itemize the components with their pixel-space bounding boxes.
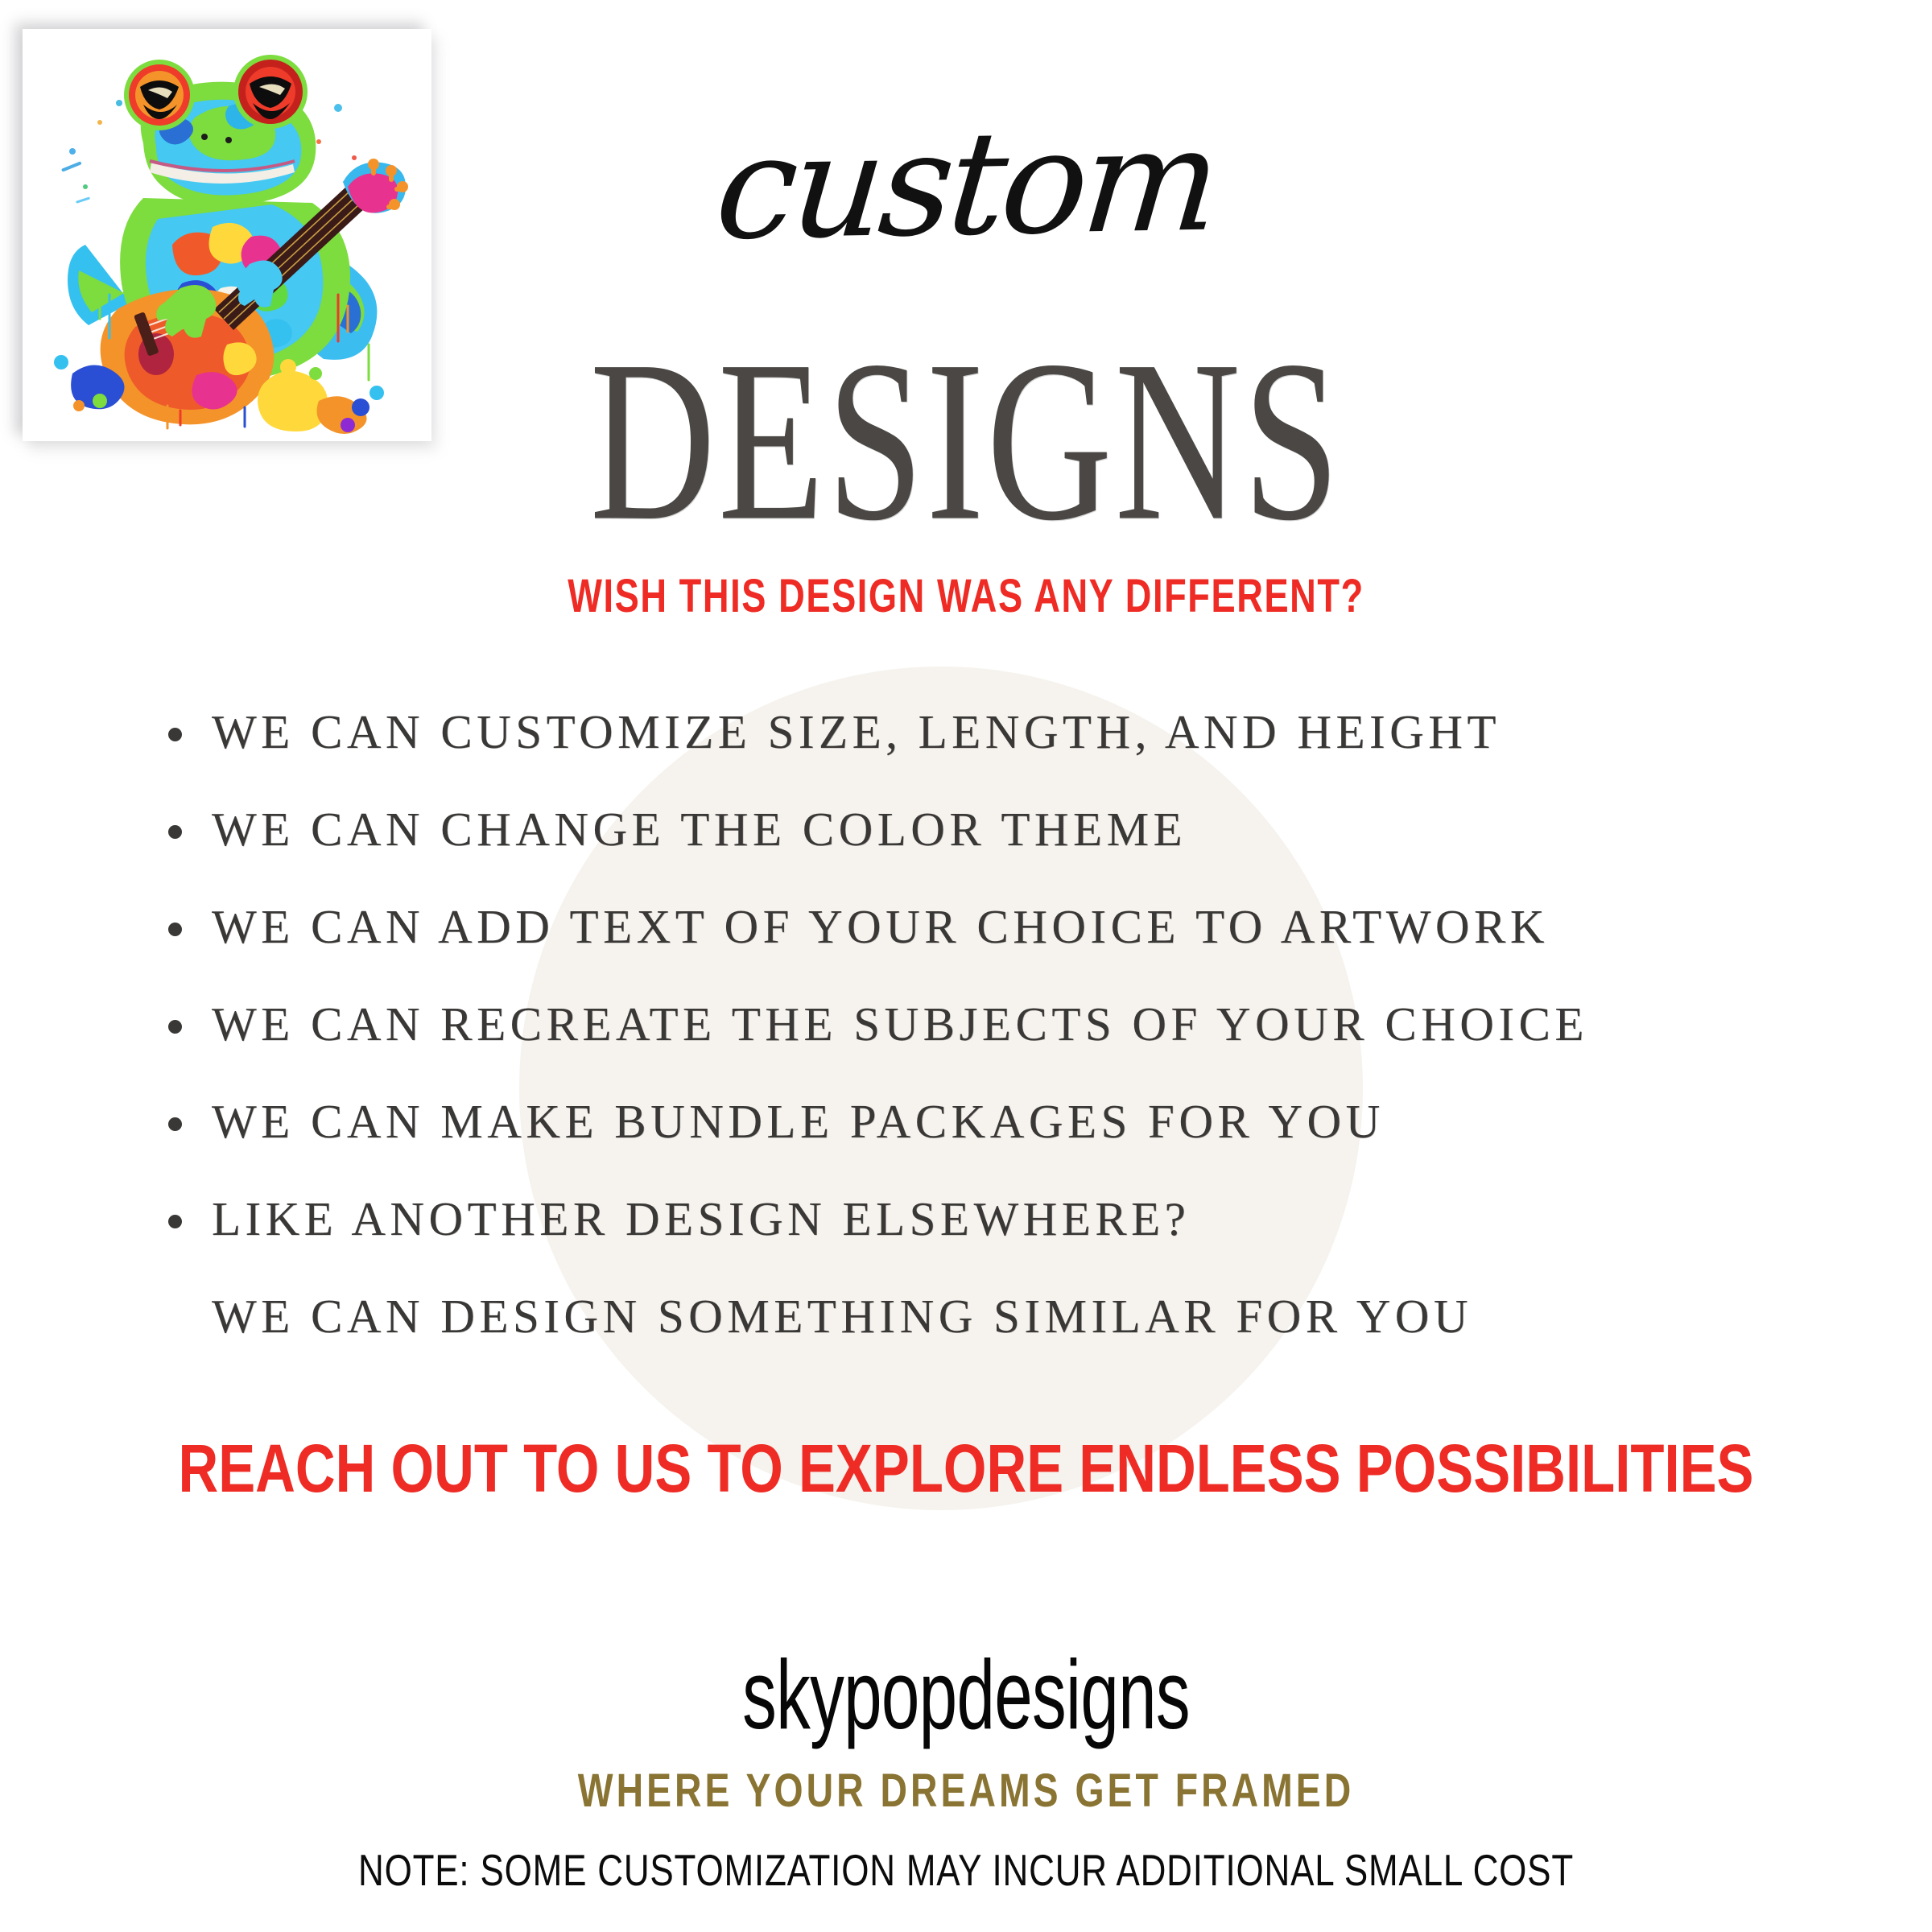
brand-tagline: WHERE YOUR DREAMS GET FRAMED — [193, 1768, 1739, 1814]
list-item-label: WE CAN RECREATE THE SUBJECTS OF YOUR CHO… — [212, 997, 1588, 1051]
call-to-action-text: REACH OUT TO US TO EXPLORE ENDLESS POSSI… — [174, 1435, 1758, 1502]
list-item-label: WE CAN CUSTOMIZE SIZE, LENGTH, AND HEIGH… — [212, 705, 1501, 758]
bullet-dot-icon — [168, 923, 182, 936]
list-item-label: WE CAN DESIGN SOMETHING SIMILAR FOR YOU — [212, 1290, 1472, 1343]
bullet-dot-icon — [168, 1215, 182, 1228]
tagline-question: WISH THIS DESIGN WAS ANY DIFFERENT? — [213, 573, 1719, 620]
bullet-dot-icon — [168, 728, 182, 741]
list-item-label: WE CAN CHANGE THE COLOR THEME — [212, 803, 1187, 856]
list-item: WE CAN CHANGE THE COLOR THEME — [157, 806, 1807, 853]
list-item: WE CAN CUSTOMIZE SIZE, LENGTH, AND HEIGH… — [157, 708, 1807, 756]
list-item-label: WE CAN ADD TEXT OF YOUR CHOICE TO ARTWOR… — [212, 900, 1549, 953]
footer-note: NOTE: SOME CUSTOMIZATION MAY INCUR ADDIT… — [193, 1848, 1739, 1893]
bullet-dot-icon — [168, 1117, 182, 1131]
bullet-dot-icon — [168, 825, 182, 839]
list-item: WE CAN RECREATE THE SUBJECTS OF YOUR CHO… — [157, 1001, 1807, 1048]
list-item-label: WE CAN MAKE BUNDLE PACKAGES FOR YOU — [212, 1095, 1385, 1148]
bullet-dot-icon — [168, 1020, 182, 1034]
list-item: WE CAN ADD TEXT OF YOUR CHOICE TO ARTWOR… — [157, 903, 1807, 951]
list-item: LIKE ANOTHER DESIGN ELSEWHERE? — [157, 1195, 1807, 1243]
list-item-continuation: WE CAN DESIGN SOMETHING SIMILAR FOR YOU — [157, 1293, 1807, 1340]
brand-name: skypopdesigns — [290, 1645, 1642, 1744]
list-item: WE CAN MAKE BUNDLE PACKAGES FOR YOU — [157, 1098, 1807, 1146]
feature-list: WE CAN CUSTOMIZE SIZE, LENGTH, AND HEIGH… — [157, 708, 1807, 1390]
list-item-label: LIKE ANOTHER DESIGN ELSEWHERE? — [212, 1192, 1190, 1245]
page-title-main: DESIGNS — [193, 326, 1739, 556]
